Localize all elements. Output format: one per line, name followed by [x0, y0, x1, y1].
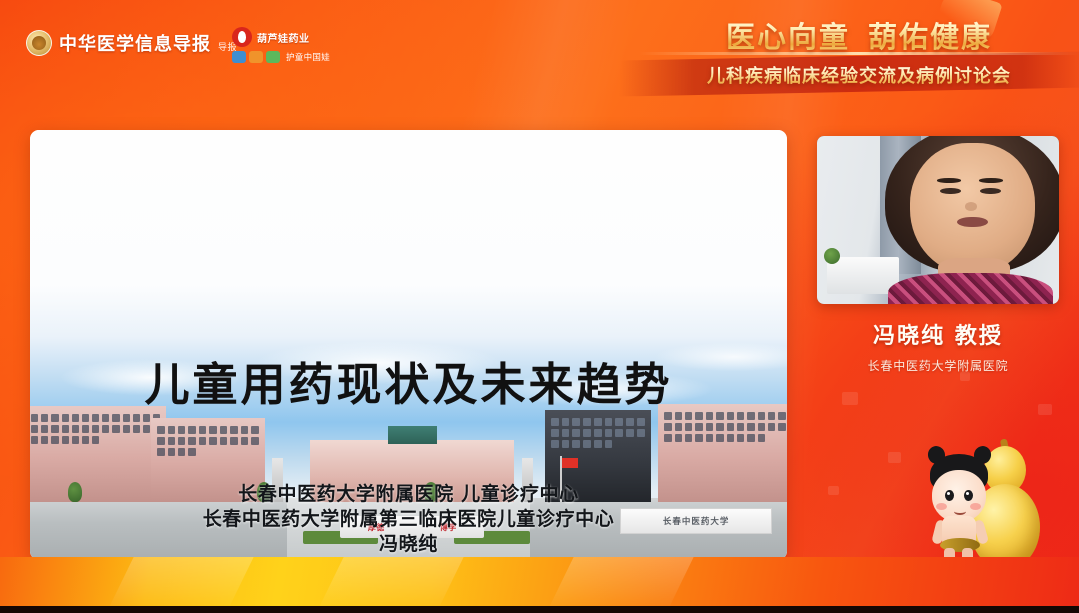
slide-subtitle-block: 长春中医药大学附属医院 儿童诊疗中心 长春中医药大学附属第三临床医院儿童诊疗中心…: [30, 482, 787, 560]
speaker-nose: [965, 202, 978, 211]
cma-seal-icon: [26, 30, 52, 56]
speaker-name: 冯晓纯 教授: [817, 318, 1059, 350]
band-highlight-slash: [546, 557, 693, 613]
mascot-cheek-left: [936, 503, 947, 510]
sparkle-decoration: [888, 452, 901, 463]
logo-partner-top-row: 葫芦娃药业: [232, 27, 328, 47]
speaker-eyebrow-right: [979, 178, 1003, 183]
speaker-eyebrow-left: [937, 178, 961, 183]
event-title-banner: 医心向童葫佑健康 儿科疾病临床经验交流及病例讨论会: [639, 0, 1079, 104]
band-highlight-slash: [316, 557, 463, 613]
mascot-cheek-right: [970, 503, 981, 510]
chip-blue-icon: [232, 51, 246, 63]
speaker-organization: 长春中医药大学附属医院: [817, 357, 1059, 374]
building-roof-cap: [388, 426, 437, 444]
logo-partner-bottom-row: 护童中国娃: [232, 51, 328, 63]
header-logo-bar: 中华医学信息导报 导报 葫芦娃药业 护童中国娃: [0, 0, 560, 96]
bottom-color-band: [0, 557, 1079, 613]
slide-presenter-name: 冯晓纯: [30, 532, 787, 557]
video-plant: [824, 248, 840, 264]
speaker-shirt: [888, 273, 1053, 304]
chip-orange-icon: [249, 51, 263, 63]
video-speaker-figure: [885, 136, 1059, 304]
banner-main-title-part1: 医心向童: [726, 20, 850, 54]
logo-partner-tagline: 护童中国娃: [286, 51, 330, 63]
speaker-eye-right: [980, 188, 1001, 195]
speaker-eye-left: [940, 188, 961, 195]
slide-subtitle-line-1: 长春中医药大学附属医院 儿童诊疗中心: [30, 482, 787, 507]
banner-main-title: 医心向童葫佑健康: [639, 14, 1079, 56]
sparkle-decoration: [842, 392, 858, 405]
band-highlight-slash: [106, 557, 253, 613]
mascot-face: [932, 470, 986, 522]
speaker-face: [910, 143, 1035, 275]
bottom-dark-edge: [0, 606, 1079, 613]
mascot-eye-left: [945, 490, 954, 501]
logo-partner-pharma: 葫芦娃药业 护童中国娃: [232, 27, 328, 63]
logo-chinese-medical-association: 中华医学信息导报 导报: [26, 30, 237, 56]
logo-partner-name: 葫芦娃药业: [257, 30, 310, 45]
sparkle-decoration: [1038, 404, 1052, 415]
speaker-video-feed[interactable]: [817, 136, 1059, 304]
gourd-badge-icon: [232, 27, 252, 47]
logo-primary-name: 中华医学信息导报: [59, 30, 211, 56]
slide-title: 儿童用药现状及未来趋势: [30, 348, 787, 413]
mascot-mouth: [954, 508, 966, 515]
banner-main-title-part2: 葫佑健康: [868, 20, 992, 54]
presentation-slide[interactable]: 厚德 博学 长春中医药大学 儿童用药现状及未来趋势 长春中医药大学附属医院 儿童…: [30, 130, 787, 560]
speaker-mouth: [957, 217, 987, 228]
sparkle-decoration: [828, 486, 839, 495]
chip-green-icon: [266, 51, 280, 63]
banner-subtitle: 儿科疾病临床经验交流及病例讨论会: [639, 62, 1079, 88]
broadcast-stage: 中华医学信息导报 导报 葫芦娃药业 护童中国娃 医心向童葫佑健康 儿科疾病临床经…: [0, 0, 1079, 613]
speaker-caption: 冯晓纯 教授 长春中医药大学附属医院: [817, 318, 1059, 374]
slide-subtitle-line-2: 长春中医药大学附属第三临床医院儿童诊疗中心: [30, 507, 787, 532]
mascot-eye-right: [964, 490, 973, 501]
